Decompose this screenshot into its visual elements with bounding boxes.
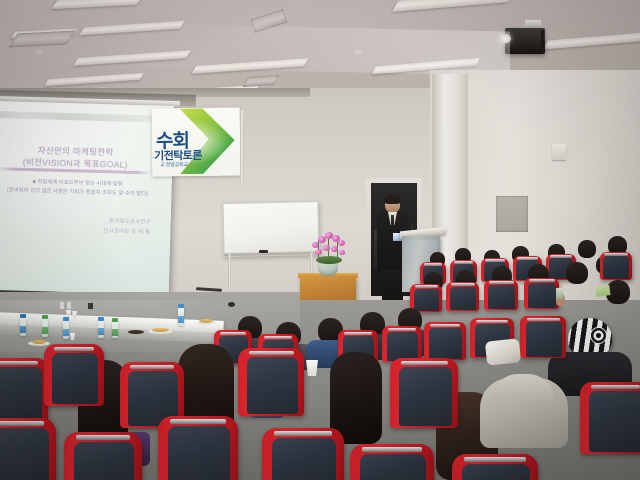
seat-cushion bbox=[429, 328, 462, 359]
bottle-cap bbox=[112, 318, 118, 322]
seat-top-strip bbox=[550, 255, 572, 258]
banner-caption: 교 한양공학교 bbox=[160, 161, 230, 169]
whiteboard bbox=[222, 201, 319, 257]
bottle-cap bbox=[98, 317, 104, 321]
seat-cushion bbox=[589, 391, 640, 452]
presenter-tie bbox=[391, 215, 394, 229]
wall-speaker bbox=[552, 144, 566, 160]
auditorium-seat bbox=[390, 358, 458, 428]
food-item-dark bbox=[128, 330, 144, 334]
bottle-label bbox=[63, 329, 69, 336]
projector-cable bbox=[541, 30, 544, 54]
seat-cushion bbox=[272, 438, 336, 480]
auditorium-seat bbox=[424, 322, 466, 360]
seat-top-strip bbox=[604, 253, 628, 256]
auditorium-seat bbox=[600, 252, 632, 280]
bottle-cap bbox=[42, 315, 48, 319]
presenter-legs bbox=[382, 270, 403, 300]
seat-top-strip bbox=[591, 385, 640, 389]
audience-head bbox=[566, 262, 588, 284]
auditorium-seat bbox=[484, 280, 518, 310]
projector-beam bbox=[0, 20, 510, 75]
presenter-face bbox=[387, 203, 398, 213]
orchid-bloom bbox=[315, 249, 322, 255]
bottle-label bbox=[98, 328, 104, 335]
auditorium-seat bbox=[410, 284, 442, 312]
orchid-leaves bbox=[316, 256, 342, 264]
auditorium-seat bbox=[238, 348, 304, 416]
bottle-label bbox=[42, 327, 48, 334]
seat-top-strip bbox=[249, 351, 294, 355]
auditorium-seat bbox=[350, 444, 434, 480]
auditorium-seat bbox=[64, 432, 142, 480]
seat-top-strip bbox=[388, 328, 416, 331]
seat-cushion bbox=[52, 353, 98, 404]
orchid-arrangement bbox=[306, 232, 352, 266]
bottle-cap bbox=[20, 314, 26, 318]
water-bottle bbox=[112, 321, 118, 338]
orchid-bloom bbox=[323, 245, 330, 251]
audience-phone bbox=[556, 288, 563, 299]
ceiling-light bbox=[44, 73, 144, 86]
paper-cup bbox=[306, 360, 318, 376]
seat-cushion bbox=[168, 426, 230, 480]
seat-top-strip bbox=[54, 347, 94, 351]
seat-cushion bbox=[528, 283, 556, 308]
seat-cushion bbox=[360, 454, 426, 480]
orchid-bloom bbox=[338, 240, 345, 246]
projector-body bbox=[505, 28, 545, 54]
water-bottle bbox=[63, 320, 69, 339]
auditorium-seat bbox=[382, 326, 422, 362]
food-item bbox=[199, 319, 213, 323]
bottle-label bbox=[178, 316, 184, 323]
water-bottle bbox=[20, 317, 26, 336]
seat-top-strip bbox=[517, 257, 538, 260]
seat-top-strip bbox=[76, 435, 130, 440]
orchid-bloom bbox=[331, 246, 338, 252]
auditorium-seat bbox=[446, 282, 479, 311]
projection-screen: 자신만의 마케팅전략 (비전VISION과 목표GOAL) ■ 직업세계 리로드… bbox=[0, 101, 174, 298]
projector-mount bbox=[525, 20, 541, 28]
seat-top-strip bbox=[0, 361, 38, 365]
table-small-item bbox=[60, 302, 64, 309]
table-small-item bbox=[88, 303, 93, 309]
seat-cushion bbox=[450, 287, 476, 310]
water-bottle bbox=[178, 307, 184, 326]
seat-cushion bbox=[414, 289, 439, 311]
seat-top-strip bbox=[130, 365, 174, 369]
seat-cushion bbox=[74, 442, 134, 480]
bottle-label bbox=[20, 326, 26, 333]
bottle-cap bbox=[63, 317, 69, 321]
presenter-hair bbox=[384, 195, 401, 204]
seat-top-strip bbox=[401, 361, 448, 365]
seat-top-strip bbox=[485, 259, 505, 262]
seat-top-strip bbox=[362, 447, 422, 452]
seat-top-strip bbox=[529, 279, 555, 282]
orchid-bloom bbox=[312, 242, 319, 248]
seat-top-strip bbox=[489, 281, 514, 284]
seat-cushion bbox=[526, 322, 562, 357]
table-small-item bbox=[67, 302, 71, 309]
water-bottle bbox=[42, 318, 48, 337]
seat-cushion bbox=[462, 464, 530, 480]
auditorium-seat bbox=[158, 416, 238, 480]
ceiling-vent bbox=[243, 75, 279, 87]
whiteboard-marker bbox=[259, 250, 268, 253]
seat-top-strip bbox=[415, 285, 438, 288]
auditorium-seat bbox=[44, 344, 104, 406]
seat-top-strip bbox=[344, 332, 372, 335]
seat-top-strip bbox=[264, 336, 292, 339]
auditorium-seat bbox=[524, 278, 559, 309]
seat-top-strip bbox=[0, 421, 44, 426]
seat-cushion bbox=[0, 428, 49, 480]
seat-top-strip bbox=[454, 261, 473, 264]
seat-cushion bbox=[399, 367, 452, 426]
ceiling-light bbox=[392, 0, 514, 12]
auditorium-seat bbox=[452, 454, 538, 480]
auditorium-seat bbox=[580, 382, 640, 454]
bottle-label bbox=[112, 329, 118, 336]
audience-head bbox=[578, 240, 596, 258]
seat-top-strip bbox=[451, 283, 475, 286]
seat-cushion bbox=[488, 285, 515, 309]
seat-top-strip bbox=[464, 457, 526, 462]
auditorium-seat bbox=[0, 418, 56, 480]
seat-top-strip bbox=[527, 318, 560, 321]
audience-held-paper bbox=[595, 285, 610, 297]
auditorium-seat bbox=[262, 428, 344, 480]
floor-object bbox=[228, 302, 235, 307]
seat-top-strip bbox=[424, 263, 442, 266]
slide-credit: 한국철도공사연구 인사관리팀 김 재 홍 bbox=[60, 215, 151, 238]
beanie-swirl-pattern bbox=[590, 327, 607, 344]
seat-top-strip bbox=[220, 332, 246, 335]
projector bbox=[505, 22, 549, 56]
seat-top-strip bbox=[476, 320, 508, 323]
wall-banner: 수회 기전탁토론 교 한양공학교 bbox=[152, 108, 241, 177]
wall-access-panel bbox=[496, 196, 528, 232]
banner-pole bbox=[240, 110, 244, 182]
auditorium-seat bbox=[520, 316, 566, 358]
auditorium-seat bbox=[0, 358, 48, 422]
ceiling-light bbox=[543, 32, 640, 50]
seat-cushion bbox=[603, 256, 629, 279]
seat-cushion bbox=[387, 332, 418, 361]
seat-top-strip bbox=[430, 324, 460, 327]
seat-top-strip bbox=[274, 431, 332, 436]
seat-top-strip bbox=[170, 419, 226, 424]
bottle-cap bbox=[178, 304, 184, 308]
food-item bbox=[32, 340, 46, 344]
seat-cushion bbox=[0, 367, 42, 420]
water-bottle bbox=[98, 320, 104, 338]
orchid-bloom bbox=[339, 250, 345, 255]
audience-white-bag bbox=[485, 338, 521, 365]
ceiling-light bbox=[51, 0, 143, 9]
food-item bbox=[152, 328, 169, 332]
seat-cushion bbox=[247, 357, 298, 414]
lecture-hall-photo: 자신만의 마케팅전략 (비전VISION과 목표GOAL) ■ 직업세계 리로드… bbox=[0, 0, 640, 480]
